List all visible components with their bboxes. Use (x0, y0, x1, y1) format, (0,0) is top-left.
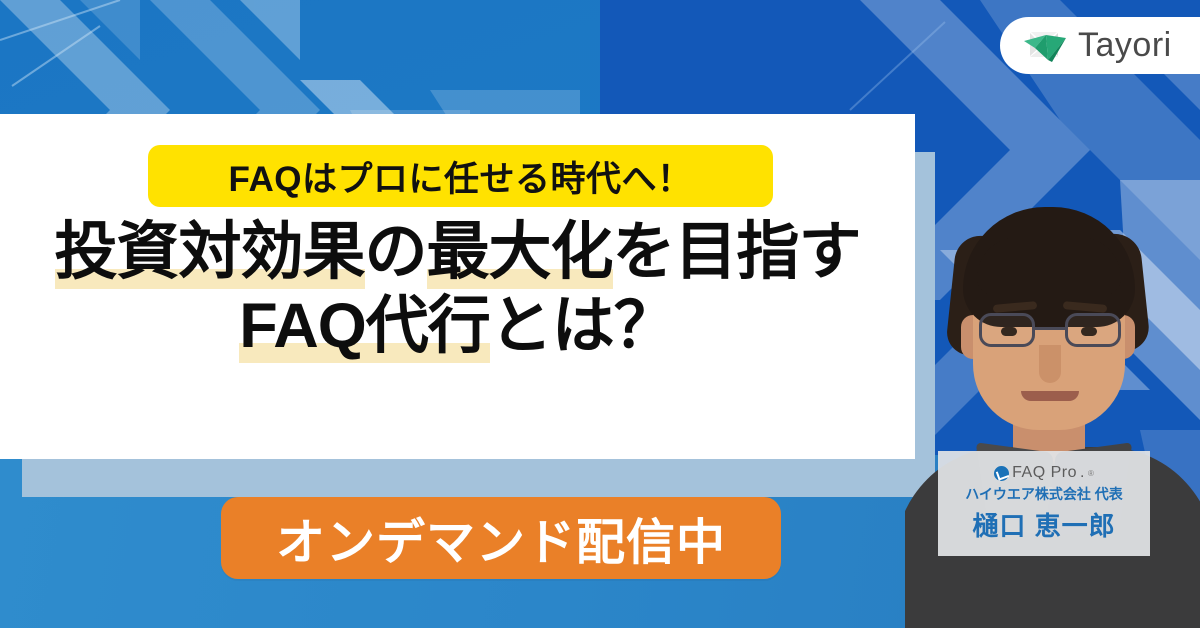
speaker-nose (1039, 345, 1061, 383)
headline-highlight-2: 最大化 (427, 217, 613, 289)
speaker-mouth (1021, 391, 1079, 401)
faq-pro-logo-suffix: . (1080, 464, 1085, 482)
speaker-nameplate: FAQ Pro . ® ハイウエア株式会社 代表 樋口 恵一郎 (938, 451, 1150, 556)
headline-highlight-1: 投資対効果 (55, 217, 365, 289)
speaker-photo (905, 195, 1200, 628)
ondemand-cta-label: オンデマンド配信中 (276, 503, 726, 574)
headline-line-1: 投資対効果の最大化を目指す (0, 218, 915, 286)
headline-plain-3: とは？ (490, 291, 676, 361)
headline-plain-2: を目指す (613, 217, 861, 287)
faq-pro-logo-trademark: ® (1088, 469, 1094, 478)
speaker-hairline (977, 237, 1121, 295)
headline-block: 投資対効果の最大化を目指す FAQ代行とは？ (0, 218, 915, 360)
tayori-logo-pill[interactable]: Tayori (1000, 17, 1200, 74)
speaker-company-role: ハイウエア株式会社 代表 (965, 484, 1123, 504)
eyebrow-badge-label: FAQはプロに任せる時代へ！ (229, 151, 693, 202)
faq-pro-logo: FAQ Pro . ® (994, 464, 1094, 482)
headline-line-2: FAQ代行とは？ (0, 292, 915, 360)
faq-pro-logo-icon (994, 466, 1009, 481)
headline-highlight-3: FAQ代行 (239, 291, 490, 363)
faq-pro-logo-text: FAQ Pro (1012, 464, 1077, 482)
ondemand-cta-button[interactable]: オンデマンド配信中 (221, 497, 781, 579)
tayori-logo-text: Tayori (1078, 26, 1172, 65)
banner-root: FAQはプロに任せる時代へ！ 投資対効果の最大化を目指す FAQ代行とは？ オン… (0, 0, 1200, 628)
speaker-name: 樋口 恵一郎 (972, 506, 1115, 543)
envelope-paper-plane-icon (1022, 29, 1068, 63)
eyebrow-badge: FAQはプロに任せる時代へ！ (148, 145, 773, 207)
headline-plain-1: の (365, 217, 427, 287)
